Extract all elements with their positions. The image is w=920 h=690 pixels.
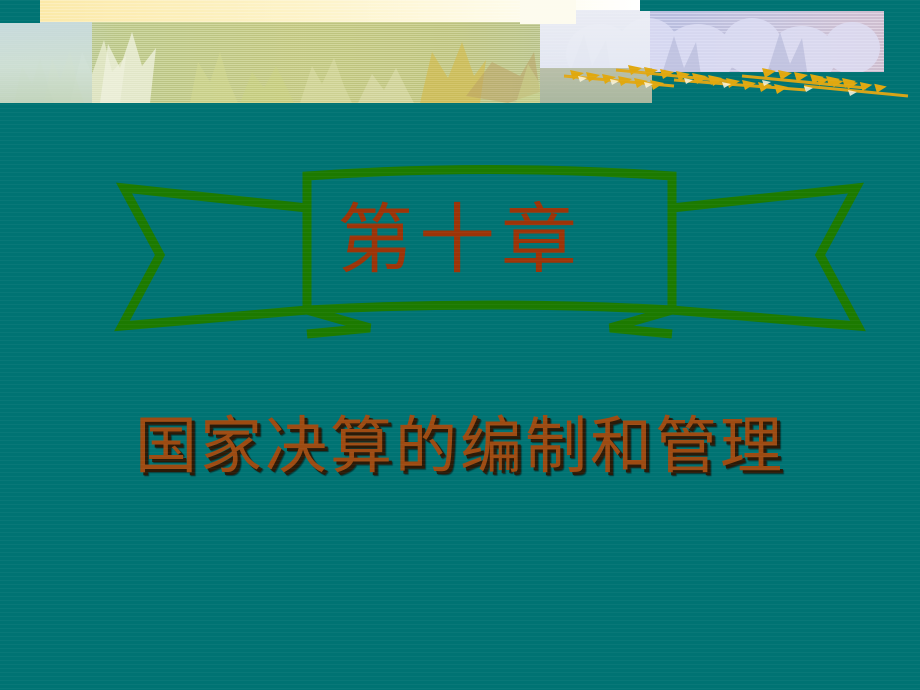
- presentation-slide: 第十章 国家决算的编制和管理: [0, 0, 920, 690]
- slide-subtitle: 国家决算的编制和管理: [0, 398, 920, 494]
- golden-wheat-spikes-icon: [556, 56, 916, 116]
- blue-grey-sliver-band: [0, 22, 92, 103]
- header-decoration-banner: [0, 0, 920, 112]
- chapter-number-label: 第十章: [0, 185, 920, 295]
- teal-notch-top-right: [640, 0, 920, 11]
- teal-notch-top-left: [0, 0, 40, 23]
- pale-overlay-rect-small: [520, 0, 576, 24]
